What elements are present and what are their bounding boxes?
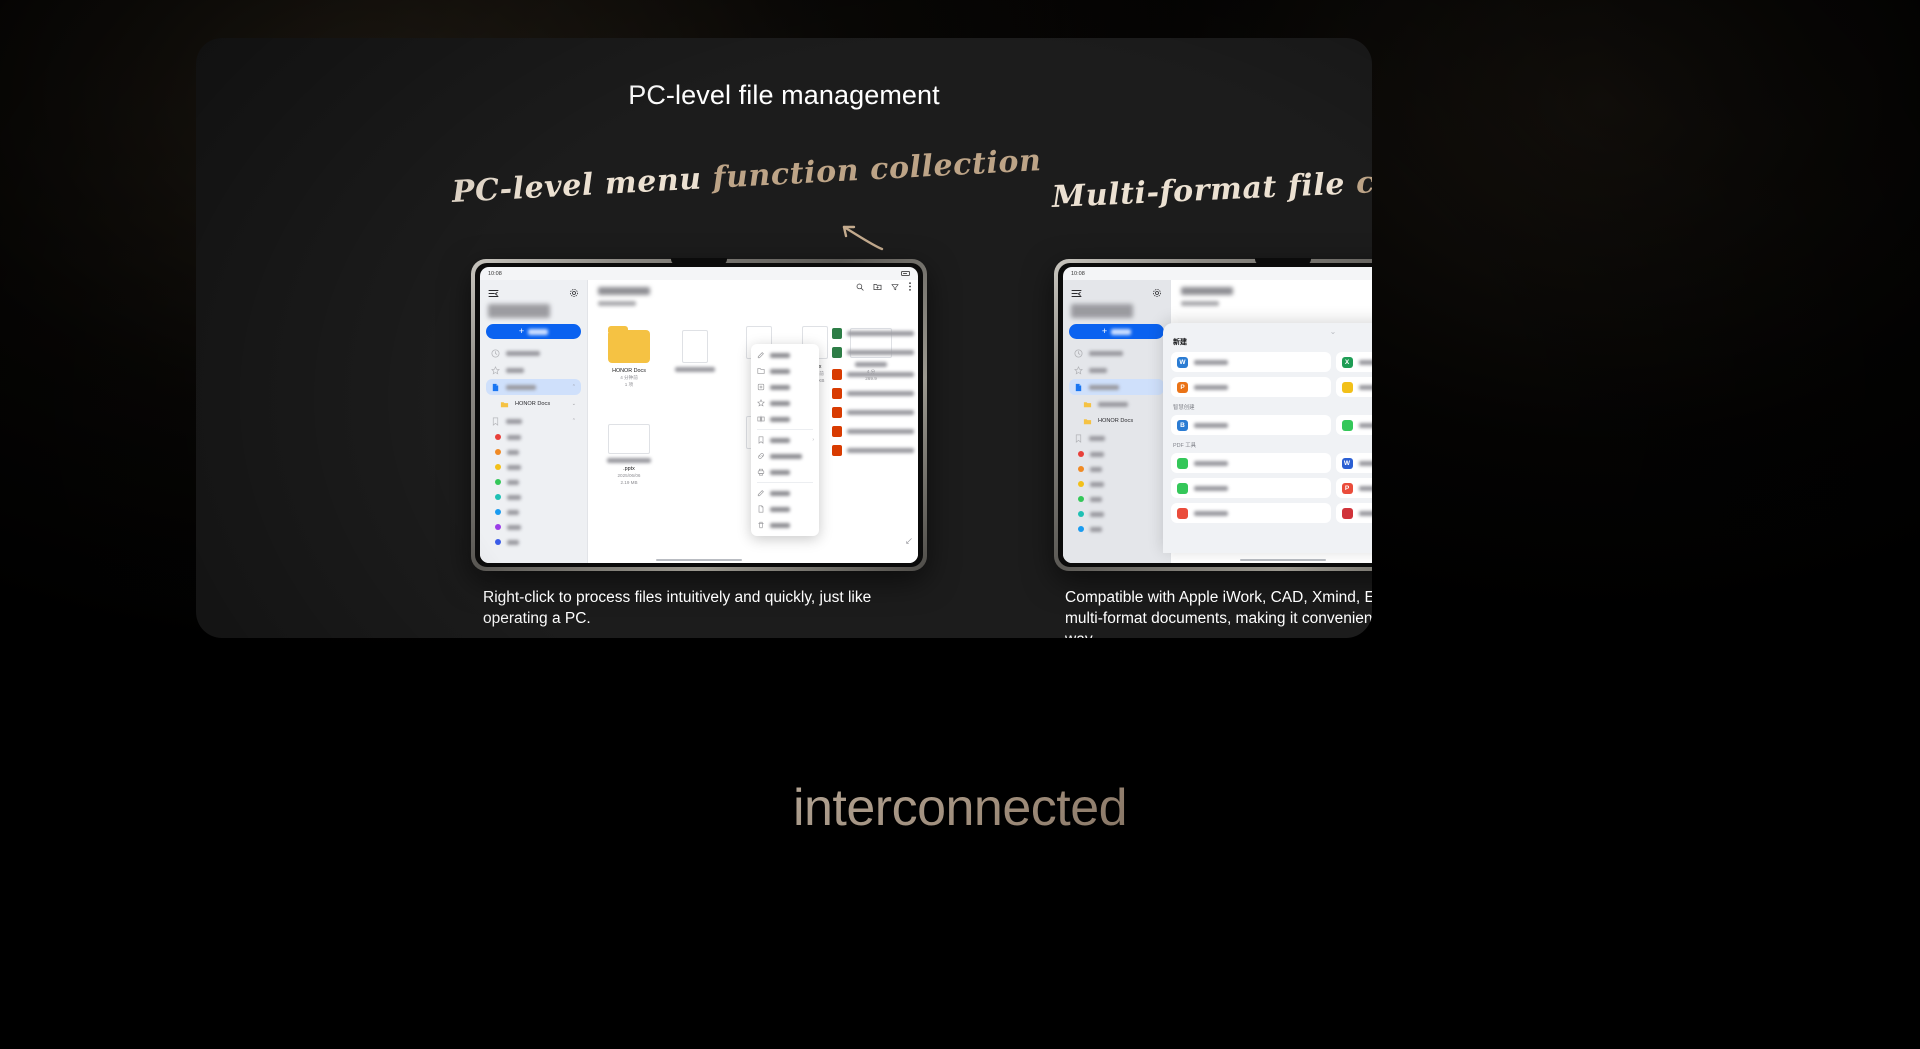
sidebar-header	[1069, 284, 1164, 300]
tablet-left: 10:08	[471, 259, 927, 571]
powerpoint-icon: P	[1177, 382, 1188, 393]
sheet-item-scan[interactable]: B	[1171, 415, 1331, 435]
sheet-item-label	[1194, 385, 1228, 390]
clock-icon	[491, 349, 500, 358]
sheet-item-label	[1359, 423, 1373, 428]
sidebar-item-folder[interactable]	[1069, 396, 1164, 412]
excel-icon: X	[1342, 357, 1353, 368]
file-name-blurred	[675, 367, 715, 372]
sidebar-item-starred-label	[1089, 368, 1107, 373]
caption-left: Right-click to process files intuitively…	[483, 588, 913, 630]
folder-add-icon[interactable]	[873, 283, 882, 291]
sheet-item-label	[1359, 511, 1373, 516]
content-left: HONOR Docs 4 分钟前 1 项 .docx	[588, 280, 918, 563]
file-item-slide[interactable]: .pptx 2025/06/06 2.19 MB	[600, 424, 658, 487]
recent-file-list	[832, 324, 914, 460]
list-item[interactable]	[1069, 507, 1164, 521]
filter-icon[interactable]	[891, 283, 899, 291]
compare-icon	[757, 415, 765, 423]
chevron-right-icon: ›	[812, 437, 814, 443]
sheet-item-label	[1194, 360, 1228, 365]
menu-item[interactable]	[751, 464, 819, 480]
sidebar-item-honor-docs[interactable]: HONOR Docs ⌄	[486, 396, 581, 412]
collapse-sidebar-icon[interactable]	[488, 289, 499, 298]
tablet-left-screen: 10:08	[480, 267, 918, 563]
file-meta: 1 项	[600, 382, 658, 389]
file-meta: 4 分钟前	[600, 375, 658, 382]
folder-thumbnail	[608, 330, 650, 363]
tablet-right-bezel: 10:08	[1058, 263, 1372, 567]
home-indicator	[656, 559, 742, 562]
doc-icon	[491, 383, 500, 392]
heading-left: PC-level menu function collection	[451, 143, 1042, 210]
menu-item[interactable]	[751, 501, 819, 517]
sidebar-item-honor-docs-label: HONOR Docs	[1098, 418, 1133, 424]
sidebar-item-tags-label	[1089, 436, 1105, 441]
list-item[interactable]	[1069, 492, 1164, 506]
list-item[interactable]	[832, 422, 914, 441]
plus-icon: +	[519, 327, 524, 336]
trash-icon	[757, 521, 765, 529]
file-meta: 2.19 MB	[600, 480, 658, 487]
folder-icon	[1083, 400, 1092, 409]
file-name-blurred	[607, 458, 651, 463]
content-title-blurred	[1181, 287, 1233, 295]
resize-handle-icon[interactable]	[905, 537, 913, 545]
list-item[interactable]	[486, 535, 581, 549]
menu-item[interactable]	[751, 379, 819, 395]
word-icon: W	[1177, 357, 1188, 368]
list-item[interactable]	[1069, 462, 1164, 476]
sidebar-item-honor-docs-label: HONOR Docs	[515, 401, 550, 407]
toolbar-left	[856, 282, 912, 291]
heading-right-part2: compatibility	[1355, 156, 1372, 201]
bookmark-icon	[1074, 434, 1083, 443]
sheet-item-word[interactable]: W	[1171, 352, 1331, 372]
link-icon	[757, 452, 765, 460]
file-name: HONOR Docs	[600, 367, 658, 375]
sheet-grid-new: W X P	[1171, 352, 1372, 397]
app-name-blurred	[1071, 304, 1133, 318]
list-item[interactable]	[1069, 522, 1164, 536]
file-item-doc[interactable]	[666, 330, 724, 374]
sidebar-item-documents[interactable]	[1069, 379, 1164, 395]
sidebar-item-recent-label	[1089, 351, 1123, 356]
list-item[interactable]	[832, 365, 914, 384]
home-indicator	[1240, 559, 1326, 562]
menu-separator	[757, 429, 813, 430]
tablet-right: 10:08	[1054, 259, 1372, 571]
ppt-to-pdf-icon: P	[1342, 483, 1353, 494]
folder-icon	[500, 400, 509, 409]
sheet-grid-pdf: W P	[1171, 453, 1372, 523]
sidebar-item-honor-docs[interactable]: HONOR Docs	[1069, 413, 1164, 429]
status-icons	[901, 271, 910, 276]
doc-thumbnail	[682, 330, 708, 363]
sheet-item-label	[1359, 461, 1373, 466]
curved-arrow-left-icon	[816, 212, 886, 252]
menu-item[interactable]	[751, 347, 819, 363]
battery-icon	[901, 271, 910, 276]
sidebar-item-recent[interactable]	[1069, 345, 1164, 361]
open-with-icon	[757, 351, 765, 359]
sidebar-item-folder-label	[1098, 402, 1128, 407]
chevron-up-icon: ⌃	[572, 384, 576, 390]
file-info-icon	[757, 505, 765, 513]
recognize-icon	[1342, 420, 1353, 431]
chevron-down-icon: ⌄	[572, 401, 576, 407]
content-header	[1171, 280, 1372, 306]
sidebar-right: +	[1063, 280, 1171, 563]
sheet-item-pdf-5[interactable]	[1171, 503, 1331, 523]
menu-separator	[757, 482, 813, 483]
star-icon	[757, 399, 765, 407]
new-document-button[interactable]: +	[486, 324, 581, 339]
collapse-sidebar-icon[interactable]	[1071, 289, 1082, 298]
content-subtitle-blurred	[598, 301, 636, 306]
print-icon	[757, 468, 765, 476]
sheet-item-recognize[interactable]	[1336, 415, 1373, 435]
sheet-item-label	[1359, 360, 1373, 365]
sidebar-item-documents[interactable]: ⌃	[486, 379, 581, 395]
sheet-item-pdf-4[interactable]: P	[1336, 478, 1373, 498]
list-item[interactable]	[486, 505, 581, 519]
note-icon	[1342, 382, 1353, 393]
caption-right: Compatible with Apple iWork, CAD, Xmind,…	[1065, 588, 1372, 638]
menu-item[interactable]: ›	[751, 432, 819, 448]
sheet-item-label	[1194, 511, 1228, 516]
sheet-item-excel[interactable]: X	[1336, 352, 1373, 372]
slide-thumbnail	[608, 424, 650, 454]
sidebar-item-documents-label	[506, 385, 536, 390]
list-item[interactable]	[832, 384, 914, 403]
list-item[interactable]	[832, 324, 914, 343]
merge-pdf-icon	[1177, 508, 1188, 519]
sheet-item-note[interactable]	[1336, 377, 1373, 397]
sidebar-item-starred-label	[506, 368, 524, 373]
clock-icon	[1074, 349, 1083, 358]
bookmark-icon	[757, 436, 765, 444]
tablet-right-screen: 10:08	[1063, 267, 1372, 563]
menu-item[interactable]	[751, 448, 819, 464]
menu-item[interactable]	[751, 395, 819, 411]
sheet-item-pdf-1[interactable]	[1171, 453, 1331, 473]
gear-icon[interactable]	[569, 288, 579, 298]
list-item[interactable]	[486, 445, 581, 459]
split-pdf-icon	[1342, 508, 1353, 519]
app-name-blurred	[488, 304, 550, 318]
rename-icon	[757, 489, 765, 497]
list-item[interactable]	[486, 490, 581, 504]
sheet-to-pdf-icon	[1177, 483, 1188, 494]
list-item[interactable]	[486, 475, 581, 489]
sidebar-item-recent[interactable]	[486, 345, 581, 361]
menu-item[interactable]	[751, 411, 819, 427]
sidebar-item-starred[interactable]	[1069, 362, 1164, 378]
camera-notch	[1255, 258, 1311, 265]
sidebar-item-tags[interactable]	[1069, 430, 1164, 446]
page-root: PC-level file management PC-level menu f…	[0, 0, 1920, 1049]
menu-item[interactable]	[751, 363, 819, 379]
sheet-item-label	[1194, 461, 1228, 466]
feature-card: PC-level file management PC-level menu f…	[196, 38, 1372, 638]
new-button-label	[1111, 329, 1131, 335]
sidebar-item-starred[interactable]	[486, 362, 581, 378]
heading-left-part1: PC-level menu	[451, 161, 714, 210]
status-time: 10:08	[488, 271, 502, 277]
tablet-left-bezel: 10:08	[475, 263, 923, 567]
menu-item[interactable]	[751, 485, 819, 501]
list-item[interactable]	[1069, 447, 1164, 461]
camera-notch	[671, 258, 727, 265]
content-subtitle-blurred	[1181, 301, 1219, 306]
search-icon[interactable]	[856, 283, 864, 291]
sheet-item-label	[1359, 486, 1373, 491]
new-file-sheet[interactable]: ⌄ 新建 W X P 智慧创建 B PDF 工	[1163, 323, 1372, 553]
sheet-item-ppt[interactable]: P	[1171, 377, 1331, 397]
sidebar-item-recent-label	[506, 351, 540, 356]
new-button-label	[528, 329, 548, 335]
sheet-item-label	[1194, 486, 1228, 491]
star-icon	[1074, 366, 1083, 375]
star-icon	[491, 366, 500, 375]
tag-list-right	[1069, 447, 1164, 536]
status-bar-right: 10:08	[1063, 267, 1372, 280]
chevron-down-icon[interactable]: ⌄	[1327, 329, 1339, 335]
sheet-grid-smart: B	[1171, 415, 1372, 435]
excel-to-pdf-icon	[1177, 458, 1188, 469]
sheet-item-pdf-2[interactable]: W	[1336, 453, 1373, 473]
sheet-item-label	[1359, 385, 1373, 390]
sheet-item-pdf-3[interactable]	[1171, 478, 1331, 498]
status-bar-left: 10:08	[480, 267, 918, 280]
chevron-up-icon: ⌃	[572, 418, 576, 424]
plus-icon: +	[1102, 327, 1107, 336]
scan-icon: B	[1177, 420, 1188, 431]
sheet-title: 新建	[1173, 337, 1372, 347]
tag-list-left	[486, 430, 581, 549]
content-title-blurred	[598, 287, 650, 295]
gear-icon[interactable]	[1152, 288, 1162, 298]
list-item[interactable]	[832, 343, 914, 362]
sidebar-item-documents-label	[1089, 385, 1119, 390]
sidebar-header	[486, 284, 581, 300]
heading-right: Multi-format file compatibility	[1051, 156, 1372, 215]
menu-item[interactable]	[751, 517, 819, 533]
sidebar-item-tags[interactable]: ⌃	[486, 413, 581, 429]
page-title: PC-level file management	[196, 80, 1372, 111]
file-name: .pptx	[600, 465, 658, 473]
context-menu[interactable]: ›	[751, 344, 819, 536]
sheet-section-pdf: PDF 工具	[1173, 441, 1372, 449]
folder-icon	[1083, 417, 1092, 426]
file-item-folder[interactable]: HONOR Docs 4 分钟前 1 项	[600, 330, 658, 389]
add-box-icon	[757, 383, 765, 391]
move-icon	[757, 367, 765, 375]
status-time: 10:08	[1071, 271, 1085, 277]
bookmark-icon	[491, 417, 500, 426]
sheet-item-pdf-6[interactable]	[1336, 503, 1373, 523]
new-document-button[interactable]: +	[1069, 324, 1164, 339]
heading-right-part1: Multi-format file	[1051, 166, 1357, 215]
doc-icon	[1074, 383, 1083, 392]
list-item[interactable]	[486, 430, 581, 444]
sidebar-item-tags-label	[506, 419, 522, 424]
list-item[interactable]	[832, 441, 914, 460]
file-meta: 2025/06/06	[600, 473, 658, 480]
heading-left-part2: function collection	[712, 143, 1043, 196]
list-item[interactable]	[486, 520, 581, 534]
word-to-pdf-icon: W	[1342, 458, 1353, 469]
sidebar-left: +	[480, 280, 588, 563]
sheet-item-label	[1194, 423, 1228, 428]
list-item[interactable]	[486, 460, 581, 474]
brand-wordmark: interconnected	[0, 778, 1920, 838]
list-item[interactable]	[832, 403, 914, 422]
more-icon[interactable]	[908, 282, 912, 291]
list-item[interactable]	[1069, 477, 1164, 491]
sheet-section-smart: 智慧创建	[1173, 403, 1372, 411]
